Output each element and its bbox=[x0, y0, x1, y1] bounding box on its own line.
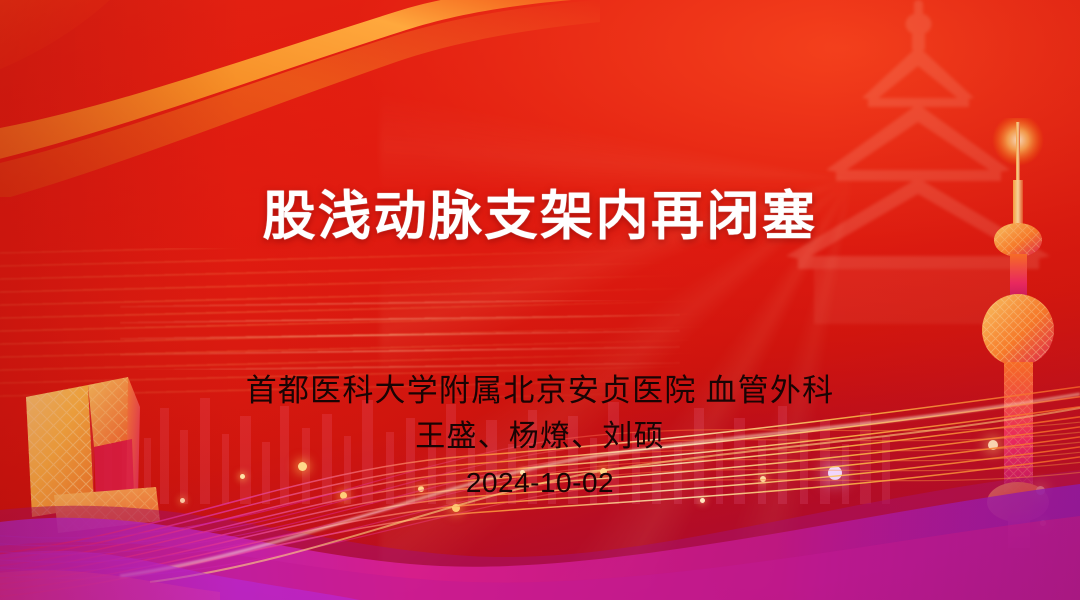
organization-line: 首都医科大学附属北京安贞医院 血管外科 bbox=[0, 368, 1080, 414]
date-line: 2024-10-02 bbox=[0, 462, 1080, 504]
authors-line: 王盛、杨燎、刘硕 bbox=[0, 414, 1080, 459]
background-vignette bbox=[0, 0, 1080, 600]
presentation-title-slide: 股浅动脉支架内再闭塞 首都医科大学附属北京安贞医院 血管外科 王盛、杨燎、刘硕 … bbox=[0, 0, 1080, 600]
credits-block: 首都医科大学附属北京安贞医院 血管外科 王盛、杨燎、刘硕 2024-10-02 bbox=[0, 368, 1080, 504]
slide-title: 股浅动脉支架内再闭塞 bbox=[0, 186, 1080, 249]
